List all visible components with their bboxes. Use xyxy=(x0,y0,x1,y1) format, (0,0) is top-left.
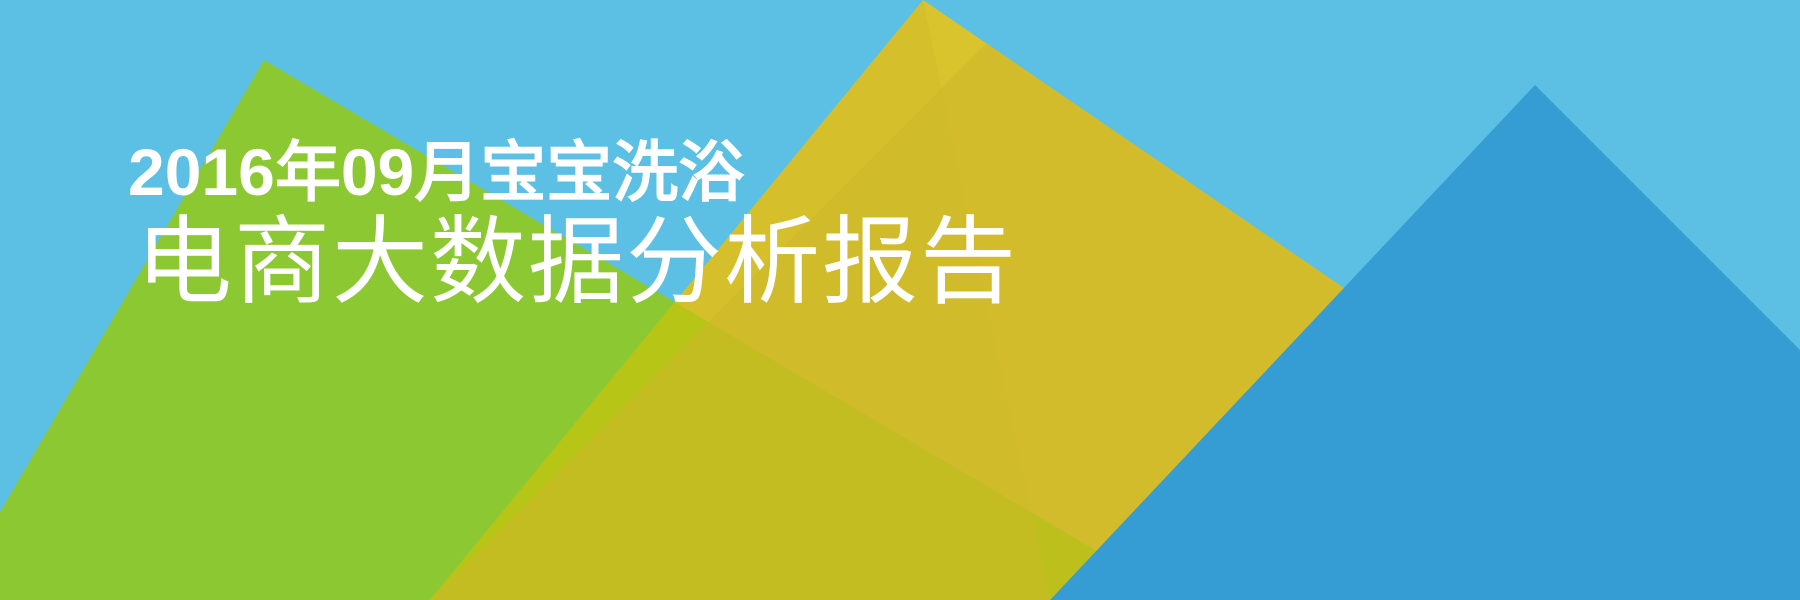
background-geometric-artwork xyxy=(0,0,1800,600)
report-cover-banner: 2016年09月宝宝洗浴 电商大数据分析报告 xyxy=(0,0,1800,600)
